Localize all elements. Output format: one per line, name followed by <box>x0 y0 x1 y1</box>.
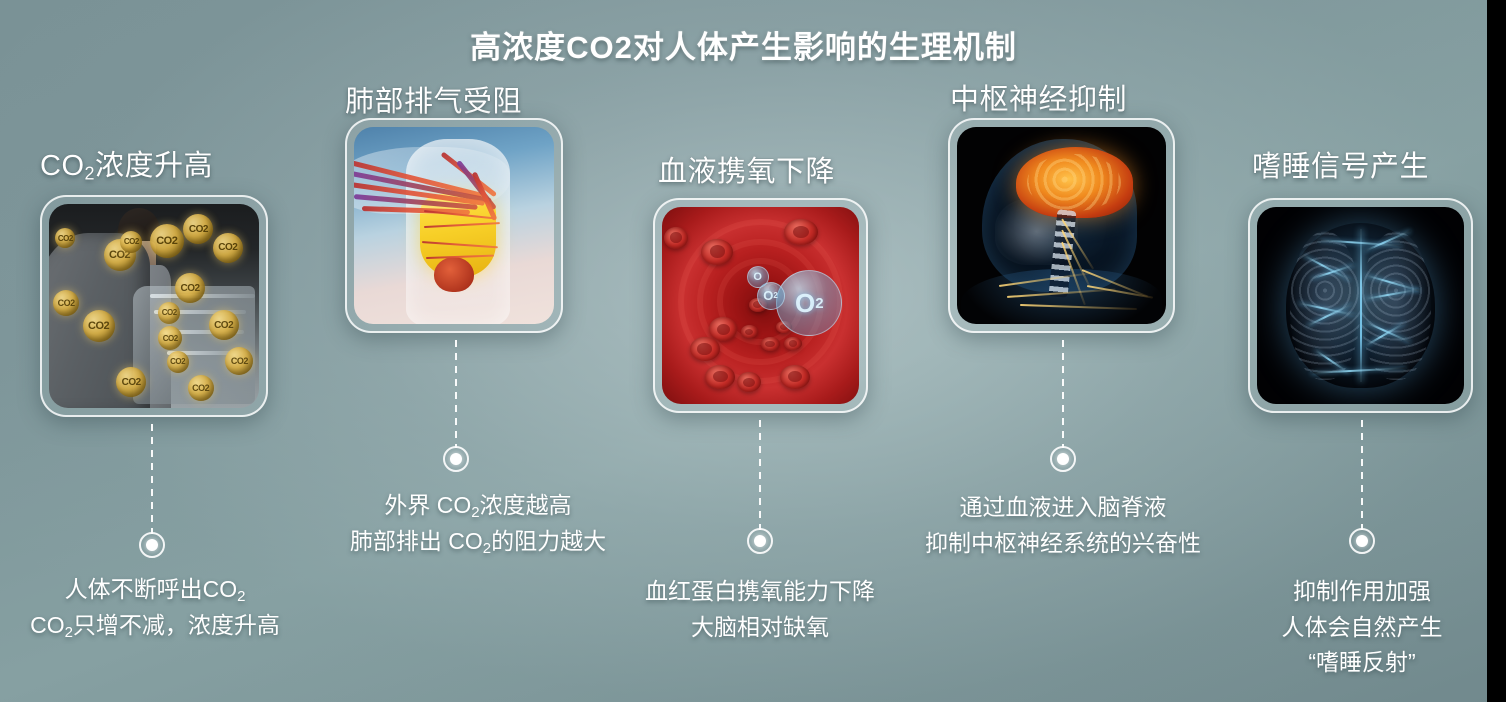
step-title-co2-rise: CO2浓度升高 <box>40 142 213 185</box>
step-image-frame-lung <box>345 118 563 333</box>
step-image-frame-cns <box>948 118 1175 333</box>
co2-bubble: CO2 <box>188 375 214 401</box>
step-caption-cns: 通过血液进入脑脊液 抑制中枢神经系统的兴奋性 <box>913 490 1213 561</box>
step-caption-co2-rise: 人体不断呼出CO2 CO2只增不减，浓度升高 <box>0 572 310 644</box>
connector-line-blood <box>759 420 761 530</box>
connector-node-cns <box>1050 446 1076 472</box>
co2-bubble: CO2 <box>120 231 142 253</box>
co2-bubble: CO2 <box>183 214 213 244</box>
co2-bubble: CO2 <box>150 224 184 258</box>
step-image-frame-co2-rise: CO2 CO2 CO2 CO2 CO2 CO2 CO2 CO2 CO2 CO2 … <box>40 195 268 417</box>
step-image-frame-blood: O2 O2 O <box>653 198 868 413</box>
step-title-blood-oxygen-drop: 血液携氧下降 <box>658 148 835 191</box>
o2-bubble-large: O2 <box>776 270 842 336</box>
connector-line-drowsiness <box>1361 420 1363 530</box>
connector-line-co2-rise <box>151 424 153 534</box>
connector-node-lung <box>443 446 469 472</box>
red-blood-cell <box>741 325 758 338</box>
red-blood-cell <box>705 365 735 389</box>
step-caption-lung: 外界 CO2浓度越高 肺部排出 CO2的阻力越大 <box>328 488 628 560</box>
connector-node-blood <box>747 528 773 554</box>
co2-bubble: CO2 <box>213 233 243 263</box>
co2-bubble: CO2 <box>225 347 253 375</box>
step-caption-drowsiness: 抑制作用加强 人体会自然产生 “嗜睡反射” <box>1212 574 1506 681</box>
car-interior-co2-bubbles-image: CO2 CO2 CO2 CO2 CO2 CO2 CO2 CO2 CO2 CO2 … <box>49 204 259 408</box>
co2-bubble: CO2 <box>167 351 189 373</box>
co2-bubble: CO2 <box>209 310 239 340</box>
co2-bubble: CO2 <box>83 310 115 342</box>
page-title: 高浓度CO2对人体产生影响的生理机制 <box>0 22 1487 67</box>
red-blood-cell <box>761 337 780 351</box>
head-brain-xray-nervous-system-image <box>957 127 1166 324</box>
blood-vessel-red-cells-co2-o2-image: O2 O2 O <box>662 207 859 404</box>
connector-node-drowsiness <box>1349 528 1375 554</box>
letterbox-bar-right <box>1487 0 1506 702</box>
red-blood-cell <box>664 227 688 249</box>
neural-brain-top-view-glow-image <box>1257 207 1464 404</box>
step-image-frame-neuro <box>1248 198 1473 413</box>
red-blood-cell <box>780 365 810 389</box>
infographic-canvas: 高浓度CO2对人体产生影响的生理机制 CO2浓度升高 CO2 CO2 <box>0 0 1506 702</box>
red-blood-cell <box>701 239 733 265</box>
human-torso-lungs-anatomy-image <box>354 127 554 324</box>
red-blood-cell <box>784 219 818 245</box>
red-blood-cell <box>737 372 761 392</box>
connector-line-lung <box>455 340 457 448</box>
o2-bubble-small: O <box>747 266 769 288</box>
red-blood-cell <box>690 337 720 361</box>
co2-bubble: CO2 <box>158 302 180 324</box>
connector-node-co2-rise <box>139 532 165 558</box>
connector-line-cns <box>1062 340 1064 448</box>
step-title-lung-exhaust-blocked: 肺部排气受阻 <box>345 78 522 121</box>
co2-bubble: CO2 <box>53 290 79 316</box>
step-caption-blood: 血红蛋白携氧能力下降 大脑相对缺氧 <box>610 574 910 645</box>
step-title-cns-suppression: 中枢神经抑制 <box>950 76 1127 119</box>
step-title-drowsiness-signal: 嗜睡信号产生 <box>1252 143 1429 186</box>
